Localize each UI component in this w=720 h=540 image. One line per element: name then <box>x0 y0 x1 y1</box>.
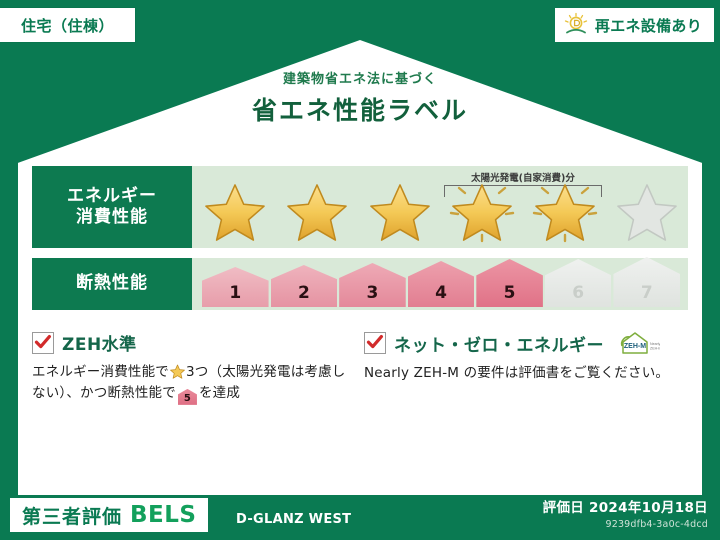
energy-label-line1: エネルギー <box>67 186 157 207</box>
title-block: 建築物省エネ法に基づく 省エネ性能ラベル <box>18 68 702 127</box>
star-5-solar <box>530 179 600 245</box>
sun-icon <box>563 12 589 38</box>
star-3 <box>365 179 435 245</box>
net-zero-energy-body: Nearly ZEH-M の要件は評価書をご覧ください。 <box>364 363 690 384</box>
zeh-section: ZEH水準 エネルギー消費性能で3つ（太陽光発電は考慮しない）、かつ断熱性能で5… <box>32 330 690 405</box>
building-name: D-GLANZ WEST <box>236 512 351 527</box>
check-icon <box>34 333 52 351</box>
insulation-grade-5: 5 <box>476 259 543 307</box>
zeh-standard-body: エネルギー消費性能で3つ（太陽光発電は考慮しない）、かつ断熱性能で5を達成 <box>32 362 350 405</box>
title-subtitle: 建築物省エネ法に基づく <box>18 68 702 87</box>
grade-value-7: 7 <box>641 283 653 303</box>
net-zero-energy-title: ネット・ゼロ・エネルギー <box>394 331 604 356</box>
star-4-solar <box>447 179 517 245</box>
housing-type-tag: 住宅（住棟） <box>0 8 135 42</box>
bels-badge: 第三者評価 BELS <box>10 498 208 532</box>
zeh-standard-text-post: を達成 <box>199 385 240 401</box>
insulation-grade-7: 7 <box>613 257 680 307</box>
main-panel: 建築物省エネ法に基づく 省エネ性能ラベル エネルギー 消費性能 太陽光発電(自家… <box>18 40 702 495</box>
zeh-standard-header: ZEH水準 <box>32 330 350 355</box>
insulation-performance-label: 断熱性能 <box>32 258 192 310</box>
net-zero-energy-block: ネット・ゼロ・エネルギー ZEH-M Nearly ZEH-M Nearly Z… <box>364 330 690 405</box>
insulation-grade-2: 2 <box>271 265 338 307</box>
zeh-standard-block: ZEH水準 エネルギー消費性能で3つ（太陽光発電は考慮しない）、かつ断熱性能で5… <box>32 330 350 405</box>
evaluation-info: 評価日 2024年10月18日 9239dfb4-3a0c-4dcd <box>543 496 708 530</box>
page-title: 省エネ性能ラベル <box>18 91 702 127</box>
zeh-standard-title: ZEH水準 <box>62 330 137 355</box>
inline-grade-house-icon: 5 <box>178 389 197 405</box>
energy-performance-label: エネルギー 消費性能 <box>32 166 192 248</box>
insulation-grade-3: 3 <box>339 263 406 307</box>
renewable-equipment-label: 再エネ設備あり <box>595 15 702 36</box>
renewable-equipment-tag: 再エネ設備あり <box>555 8 714 42</box>
svg-text:Nearly: Nearly <box>650 342 660 346</box>
insulation-grade-1: 1 <box>202 267 269 307</box>
insulation-grade-4: 4 <box>408 261 475 307</box>
svg-text:ZEH-M: ZEH-M <box>624 343 646 350</box>
grade-value-4: 4 <box>435 283 447 303</box>
insulation-grade-6: 6 <box>545 259 612 307</box>
energy-label-root: 住宅（住棟） 再エネ設備あり 建築物省エネ法に基づく 省エネ性能ラベ <box>0 0 720 540</box>
insulation-grade-list: 1 2 3 4 5 6 <box>202 262 680 307</box>
bels-jp-label: 第三者評価 <box>22 502 122 529</box>
grade-value-1: 1 <box>229 283 241 303</box>
energy-label-line2: 消費性能 <box>76 207 148 228</box>
grade-value-3: 3 <box>367 283 379 303</box>
net-zero-energy-checkbox[interactable] <box>364 332 386 354</box>
inline-star-icon <box>170 364 185 379</box>
star-rating <box>200 179 682 245</box>
star-1 <box>200 179 270 245</box>
svg-text:ZEH-M: ZEH-M <box>650 347 660 351</box>
grade-value-6: 6 <box>572 283 584 303</box>
zeh-standard-text-pre: エネルギー消費性能で <box>32 364 169 380</box>
insulation-grade-area: 1 2 3 4 5 6 <box>192 258 688 310</box>
evaluation-date: 評価日 2024年10月18日 <box>543 496 708 516</box>
star-2 <box>282 179 352 245</box>
energy-performance-row: エネルギー 消費性能 太陽光発電(自家消費)分 <box>32 166 688 248</box>
net-zero-energy-header: ネット・ゼロ・エネルギー ZEH-M Nearly ZEH-M <box>364 330 690 356</box>
zeh-standard-checkbox[interactable] <box>32 332 54 354</box>
zeh-m-logo: ZEH-M Nearly ZEH-M <box>616 330 660 356</box>
evaluation-id: 9239dfb4-3a0c-4dcd <box>543 519 708 530</box>
check-icon <box>366 333 384 351</box>
bels-en-label: BELS <box>130 502 196 528</box>
grade-value-2: 2 <box>298 283 310 303</box>
insulation-performance-row: 断熱性能 1 2 3 4 5 <box>32 258 688 310</box>
grade-value-5: 5 <box>504 283 516 303</box>
insulation-label-text: 断熱性能 <box>76 273 148 294</box>
housing-type-label: 住宅（住棟） <box>21 15 114 36</box>
star-6-empty <box>612 179 682 245</box>
energy-rating-area: 太陽光発電(自家消費)分 <box>192 166 688 248</box>
